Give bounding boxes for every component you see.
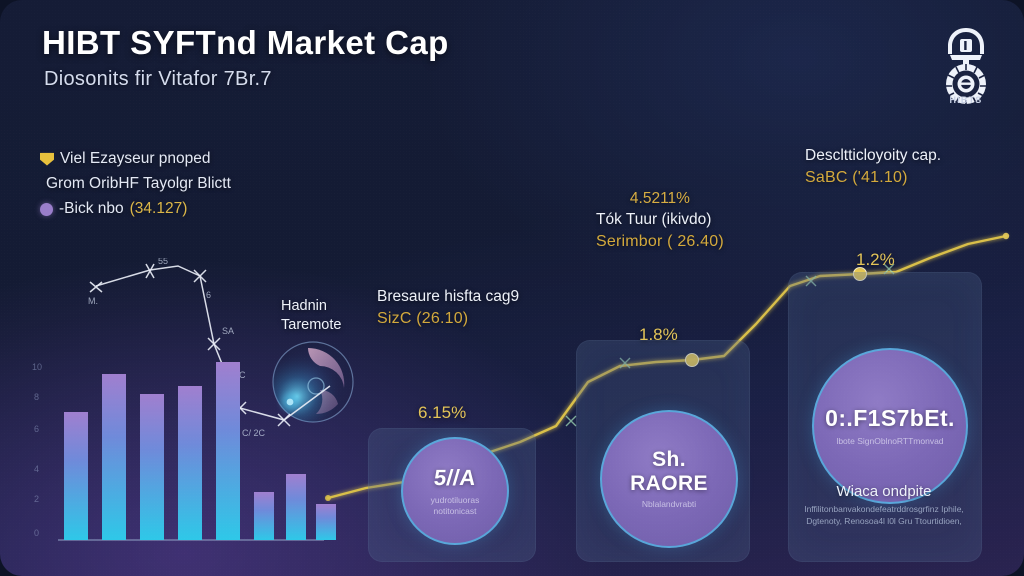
sphere-annotation-line1: Hadnin [281, 297, 341, 316]
bubble-sub-label-3a: lbote SignOblnoRTTmonvad [830, 436, 949, 447]
svg-text:6: 6 [34, 424, 39, 434]
card-bubble-2[interactable]: Sh. RAORE Nblalandvrabti [600, 410, 738, 548]
svg-text:55: 55 [158, 258, 168, 266]
legend-item-0[interactable]: Viel Ezayseur pnoped [40, 150, 340, 168]
card-footer-3: Wiaca ondpite Inffilitonbanvakondefeatrd… [795, 483, 973, 527]
svg-text:M.: M. [88, 296, 98, 306]
bubble-sub-label-2a: Nblalandvrabti [636, 499, 702, 510]
bar-chart: 10 8 6 4 2 0 [24, 352, 344, 560]
legend-label-1: Grom OribHF Tayolgr Blictt [46, 175, 231, 193]
card-header-line2-2: Serimbor ( 26.40) [596, 233, 724, 251]
svg-text:2: 2 [34, 494, 39, 504]
bubble-sub-label-1b: notitonicast [428, 506, 483, 517]
card-header-pct-2: 4.5211% [596, 190, 724, 208]
card-header-line1-3: Descltticloyoity cap. [805, 147, 941, 165]
card-header-2: 4.5211% Tók Tuur (ikivdo) Serimbor ( 26.… [596, 190, 724, 251]
card-footer-sub-3a: Inffilitonbanvakondefeatrddrosgrfinz Iph… [795, 504, 973, 515]
poster-canvas: M. 55 6 SA E3C C/ 2C 10 8 6 4 2 0 [0, 0, 1024, 576]
card-bubble-1[interactable]: 5//A yudrotiluoras notitonicast [401, 437, 509, 545]
svg-text:SA: SA [222, 326, 234, 336]
svg-text:4: 4 [34, 464, 39, 474]
svg-text:6: 6 [206, 290, 211, 300]
legend-label-0: Viel Ezayseur pnoped [60, 150, 211, 168]
svg-text:0: 0 [34, 528, 39, 538]
legend-value-2: (34.127) [130, 200, 188, 218]
page-subtitle: Diosonits fir Vitafor 7Br.7 [44, 68, 272, 91]
page-title: HIBT SYFTnd Market Cap [42, 24, 449, 62]
purple-dot-icon [40, 203, 53, 216]
legend-item-2[interactable]: -Bick nbo (34.127) [40, 200, 340, 218]
legend: Viel Ezayseur pnoped Grom OribHF Tayolgr… [40, 150, 340, 225]
card-header-line1-1: Bresaure hisfta cag9 [377, 288, 519, 306]
trend-point-label-2: 1.8% [639, 325, 678, 345]
bubble-sub-label-1a: yudrotiluoras [425, 495, 486, 506]
card-header-line1-2: Tók Tuur (ikivdo) [596, 211, 724, 229]
bubble-main-label-1: 5//A [433, 465, 478, 491]
legend-item-1[interactable]: Grom OribHF Tayolgr Blictt [40, 175, 340, 193]
sphere-annotation-line2: Taremote [281, 316, 341, 335]
bell-gear-logo-icon[interactable] [930, 22, 1002, 106]
sphere-annotation-text: Hadnin Taremote [281, 297, 341, 334]
card-header-1: Bresaure hisfta cag9 SizC (26.10) [377, 288, 519, 328]
card-header-3: Descltticloyoity cap. SaBC ('41.10) [805, 147, 941, 187]
bubble-main-label-2: Sh. RAORE [630, 448, 708, 495]
card-footer-sub-3b: Dgtenoty, Renosoa4l l0l Gru Ttourtidioen… [795, 516, 973, 527]
svg-text:8: 8 [34, 392, 39, 402]
svg-text:10: 10 [32, 362, 42, 372]
legend-label-2: -Bick nbo [59, 200, 124, 218]
bubble-main-label-3: 0:.F1S7bEt. [825, 405, 955, 432]
card-header-line2-1: SizC (26.10) [377, 310, 519, 328]
card-footer-title-3: Wiaca ondpite [795, 483, 973, 500]
trend-point-label-3: 1.2% [856, 250, 895, 270]
card-header-line2-3: SaBC ('41.10) [805, 169, 941, 187]
pin-marker-icon [40, 153, 54, 166]
logo-caption: HIBTS [930, 95, 1002, 105]
trend-point-label-1: 6.15% [418, 403, 466, 423]
card-bubble-3[interactable]: 0:.F1S7bEt. lbote SignOblnoRTTmonvad [812, 348, 968, 504]
